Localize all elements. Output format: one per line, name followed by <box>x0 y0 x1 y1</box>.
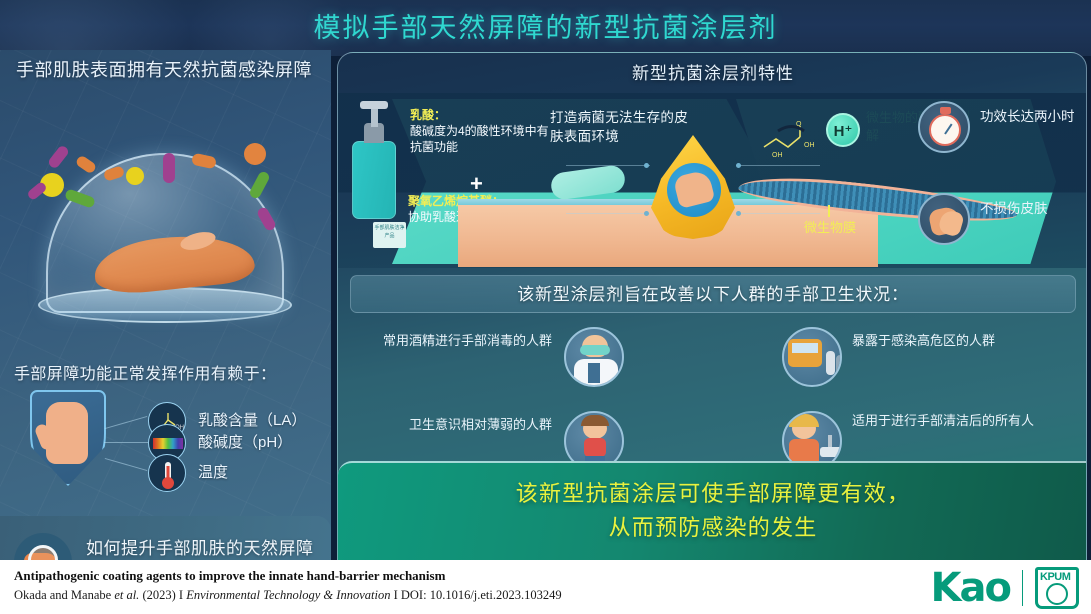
group-label-low-awareness: 卫生意识相对薄弱的人群 <box>382 415 552 434</box>
feature-label: 不损伤皮肤 <box>980 199 1087 218</box>
germ-icon <box>126 167 144 185</box>
conclusion-line-1: 该新型抗菌涂层可使手部屏障更有效， <box>338 463 1087 511</box>
germ-icon <box>47 144 70 170</box>
kpum-seal <box>1046 583 1068 605</box>
bus-crowd-icon <box>782 327 842 387</box>
bus-window <box>792 343 818 353</box>
factor-row-temperature: 温度 <box>148 454 331 494</box>
logo-group: Kao KPUM <box>931 566 1079 610</box>
question-card: 如何提升手部肌肤的天然屏障功能？ <box>0 516 331 560</box>
citation-authors: Okada and Manabe <box>14 588 114 602</box>
group-connector <box>736 213 820 214</box>
group-connector <box>566 165 650 166</box>
soap-bottle-icon: 手部肌肤洁净产品 <box>352 141 396 219</box>
factor-label: 温度 <box>198 461 228 482</box>
germ-icon <box>163 153 175 183</box>
membrane-label: 微生物膜 <box>770 217 890 236</box>
paper-title: Antipathogenic coating agents to improve… <box>14 568 445 584</box>
citation-year: (2023) <box>139 588 175 602</box>
person-b <box>836 355 842 375</box>
connector-dot <box>736 163 741 168</box>
feature-label: 功效长达两小时 <box>980 107 1087 126</box>
factor-label: 酸碱度（pH） <box>198 431 292 452</box>
germ-icon <box>26 181 48 202</box>
factor-connector <box>104 442 148 443</box>
svg-text:OH: OH <box>772 152 783 159</box>
left-panel: 手部肌肤表面拥有天然抗菌感染屏障 手部屏障功能正常发挥作用有赖于： <box>0 50 331 560</box>
kao-logo: Kao <box>931 567 1010 609</box>
page-title: 模拟手部天然屏障的新型抗菌涂层剂 <box>0 6 1091 45</box>
kpum-logo: KPUM <box>1035 567 1079 609</box>
membrane-pointer <box>828 205 830 217</box>
h-plus-ion: H⁺ <box>826 113 860 147</box>
hand-wash-icon <box>918 193 970 245</box>
doctor-icon <box>564 327 624 387</box>
magnifier-hand-icon <box>14 533 72 560</box>
svg-text:OH: OH <box>804 142 815 149</box>
group-label-high-risk: 暴露于感染高危区的人群 <box>852 331 1032 350</box>
group-label-alcohol-users: 常用酒精进行手部消毒的人群 <box>382 331 552 350</box>
germ-icon <box>248 170 271 200</box>
left-subheading: 手部屏障功能正常发挥作用有赖于： <box>14 360 324 384</box>
citation-line: Okada and Manabe et al. (2023) I Environ… <box>14 588 562 603</box>
logo-divider <box>1022 570 1023 606</box>
conclusion-line-2: 从而预防感染的发生 <box>338 511 1087 545</box>
doctor-mask <box>580 345 610 355</box>
right-panel-title: 新型抗菌涂层剂特性 <box>338 59 1087 84</box>
citation-etal: et al. <box>114 588 139 602</box>
citation-sep: I <box>390 588 400 602</box>
person-a <box>826 351 835 375</box>
connector-dot <box>644 211 649 216</box>
shield-hand-glyph <box>46 402 88 464</box>
connector-dot <box>736 211 741 216</box>
thermometer-icon <box>148 454 186 492</box>
stopwatch-crown <box>940 107 951 114</box>
woman-hair <box>789 414 819 427</box>
group-label-everyone: 适用于进行手部清洁后的所有人 <box>852 411 1042 430</box>
citation-sep: I <box>176 588 186 602</box>
infographic-poster: 模拟手部天然屏障的新型抗菌涂层剂 手部肌肤表面拥有天然抗菌感染屏障 手部屏障功能… <box>0 0 1091 614</box>
connector-dot <box>644 163 649 168</box>
dome-base <box>38 287 292 323</box>
lactic-acid-structure-icon: O OH OH <box>758 121 818 165</box>
faucet <box>828 435 832 447</box>
protective-dome-illustration <box>8 145 323 335</box>
bottle-pump <box>360 101 388 109</box>
bottle-label: 手部肌肤洁净产品 <box>373 222 406 248</box>
citation-journal: Environmental Technology & Innovation <box>186 588 390 602</box>
footer: Antipathogenic coating agents to improve… <box>0 560 1091 614</box>
sink-basin <box>820 447 842 457</box>
child-hair <box>581 415 609 426</box>
group-connector <box>566 213 650 214</box>
germ-icon <box>244 143 266 165</box>
target-banner-text: 该新型涂层剂旨在改善以下人群的手部卫生状况： <box>351 276 1075 314</box>
ingredient-name: 乳酸： <box>410 108 446 122</box>
thermometer-svg <box>149 455 186 492</box>
ingredient-desc: 酸碱度为4的酸性环境中有抗菌功能 <box>410 124 549 154</box>
stopwatch-icon <box>918 101 970 153</box>
environment-text: 打造病菌无法生存的皮肤表面环境 <box>550 108 700 146</box>
bottle-stem <box>371 107 378 127</box>
factor-connector <box>105 416 148 429</box>
right-panel: 新型抗菌涂层剂特性 手部肌肤洁净产品 乳酸： 酸碱度为4的酸性环境中有抗菌功能 … <box>337 52 1087 560</box>
target-banner: 该新型涂层剂旨在改善以下人群的手部卫生状况： <box>350 275 1076 313</box>
group-connector <box>736 165 820 166</box>
ph-gradient-bar <box>153 438 183 449</box>
ingredient-lactic-acid: 乳酸： 酸碱度为4的酸性环境中有抗菌功能 <box>410 107 558 155</box>
magnifier-lens <box>28 545 58 560</box>
kpum-logo-text: KPUM <box>1040 571 1074 583</box>
title-band: 模拟手部天然屏障的新型抗菌涂层剂 <box>0 0 1091 56</box>
factor-connector <box>105 458 148 471</box>
germ-icon <box>75 154 98 174</box>
doctor-shirt <box>588 363 600 383</box>
conclusion-banner: 该新型抗菌涂层可使手部屏障更有效， 从而预防感染的发生 <box>338 461 1087 560</box>
question-text: 如何提升手部肌肤的天然屏障功能？ <box>86 536 316 560</box>
child-shirt <box>584 438 606 457</box>
citation-doi: DOI: 10.1016/j.eti.2023.103249 <box>401 588 562 602</box>
left-heading: 手部肌肤表面拥有天然抗菌感染屏障 <box>16 58 316 83</box>
